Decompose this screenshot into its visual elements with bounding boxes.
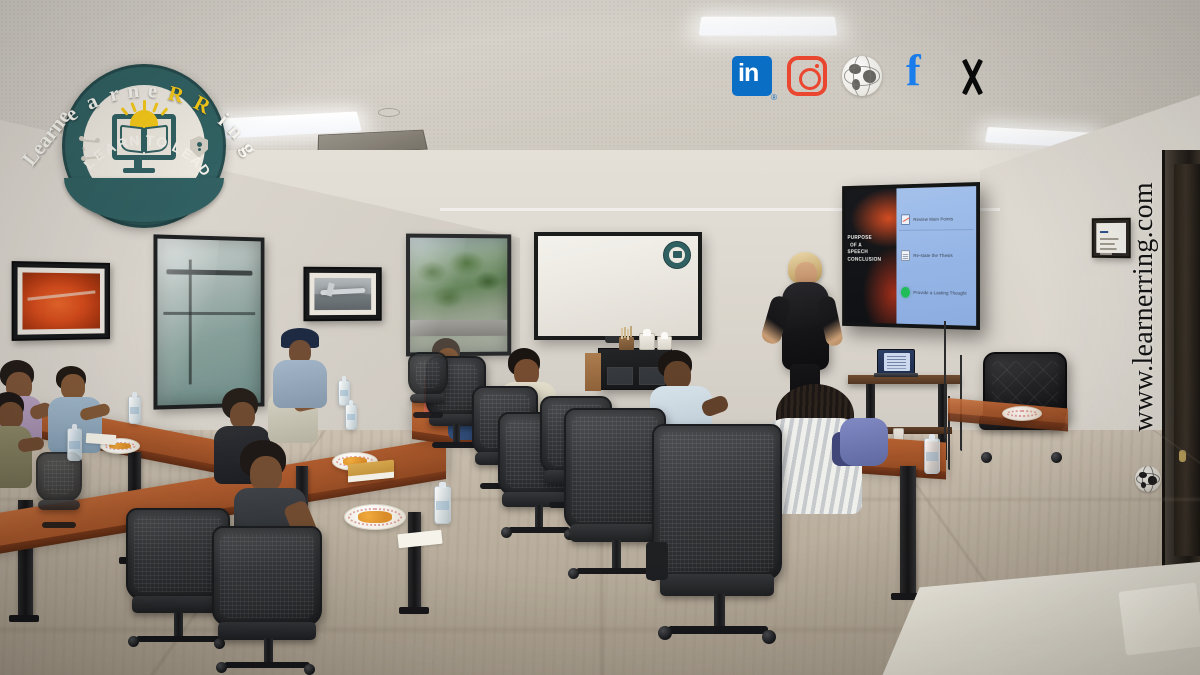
photo-image <box>314 278 371 310</box>
caster-wheel <box>658 626 672 640</box>
window-glare <box>153 234 220 409</box>
student-torso <box>840 418 888 466</box>
slide-title-panel: PURPOSE OF A SPEECH CONCLUSION <box>846 188 897 323</box>
learnerring-logo: Learne e a r n e R R i n g <box>62 64 226 228</box>
water-bottle <box>434 486 451 524</box>
instagram-icon[interactable] <box>787 56 831 100</box>
paper-plate <box>344 504 406 530</box>
water-bottle <box>128 396 141 424</box>
student-head <box>250 456 282 492</box>
chair-8[interactable] <box>652 424 782 654</box>
social-media-bar: ® <box>732 56 996 100</box>
student-head <box>0 402 23 429</box>
slide-divider <box>899 229 973 230</box>
caster-wheel <box>762 630 776 644</box>
framed-helicopter-photo <box>12 261 110 341</box>
laptop-screen <box>877 349 915 374</box>
power-cable-1 <box>944 321 946 439</box>
slide-bullet-text: Re-state the Thesis <box>913 253 952 258</box>
exec-chair-post <box>1017 430 1026 452</box>
globe-icon <box>1135 466 1161 492</box>
door-frame <box>1162 150 1200 570</box>
interior-window <box>153 234 264 409</box>
slide-bullet-text: Review Main Points <box>913 216 953 222</box>
caster-wheel <box>216 662 227 673</box>
ceiling-light-5 <box>699 17 838 36</box>
pencil-cup <box>619 337 634 350</box>
classroom-photo-scene: PURPOSE OF A SPEECH CONCLUSION Review Ma… <box>0 0 1200 675</box>
chart-line-icon <box>901 214 910 225</box>
linkedin-icon[interactable]: ® <box>732 56 776 100</box>
document-icon <box>901 251 910 262</box>
whiteboard <box>534 232 702 340</box>
student-torso <box>273 360 327 408</box>
laptop-slide-content <box>884 353 910 371</box>
logo-banner: L E A R N T O L E A D <box>64 170 224 226</box>
door-panel[interactable] <box>1174 164 1200 556</box>
photo-image <box>22 272 100 329</box>
slide-bullet-2: Re-state the Thesis <box>901 250 953 261</box>
student-torso <box>0 426 32 488</box>
table-leg-right <box>900 466 916 596</box>
chair-armrest <box>646 542 668 580</box>
slide-bullet-text: Provide a Lasting Thought <box>913 290 966 296</box>
tissue-box-2 <box>657 336 672 350</box>
website-url-watermark: www.learnerring.com <box>1128 182 1160 432</box>
paper-plate <box>1002 406 1042 421</box>
slide-body-panel: Review Main Points Re-state the Thesis P… <box>896 186 976 326</box>
chair-10[interactable] <box>36 452 82 536</box>
tissue-box-1 <box>639 333 655 350</box>
certificate-paper <box>1096 223 1126 253</box>
logo-tagline: L E A R N T O L E A D <box>64 170 224 226</box>
napkin <box>86 433 117 445</box>
exterior-window <box>406 234 511 357</box>
water-bottle <box>345 404 357 430</box>
caster-wheel <box>981 452 992 463</box>
smoke-detector-icon <box>378 108 400 117</box>
caster-wheel <box>128 636 139 647</box>
caster-wheel <box>501 527 512 538</box>
slide-bullet-3: Provide a Lasting Thought <box>901 287 967 299</box>
caster-wheel <box>1051 452 1062 463</box>
slide-title: PURPOSE OF A SPEECH CONCLUSION <box>848 235 865 265</box>
x-twitter-icon[interactable] <box>952 56 996 100</box>
table-leg <box>408 512 421 610</box>
caster-wheel <box>568 568 579 579</box>
facebook-icon[interactable] <box>897 56 941 100</box>
caster-wheel <box>304 664 315 675</box>
whiteboard-logo-decal <box>663 241 691 269</box>
credenza-door-left[interactable] <box>607 367 633 385</box>
water-bottle <box>924 438 940 474</box>
door-knob[interactable] <box>1179 450 1186 462</box>
framed-certificate <box>1092 218 1131 259</box>
globe-website-icon[interactable] <box>842 56 886 100</box>
student-head <box>230 402 255 429</box>
presenter-laptop[interactable] <box>874 349 918 377</box>
credenza-wood-side <box>585 353 601 391</box>
slide-bullet-1: Review Main Points <box>901 213 953 225</box>
framed-osprey-photo <box>303 267 381 322</box>
chair-9[interactable] <box>408 352 448 424</box>
presentation-tv: PURPOSE OF A SPEECH CONCLUSION Review Ma… <box>842 182 980 330</box>
sun-ray <box>143 100 146 111</box>
laptop-keyboard-base <box>874 373 918 377</box>
green-dot-icon <box>901 287 910 298</box>
tablecloth-fold <box>1118 582 1200 655</box>
chair-2[interactable] <box>212 526 322 675</box>
water-bottle <box>67 428 82 461</box>
